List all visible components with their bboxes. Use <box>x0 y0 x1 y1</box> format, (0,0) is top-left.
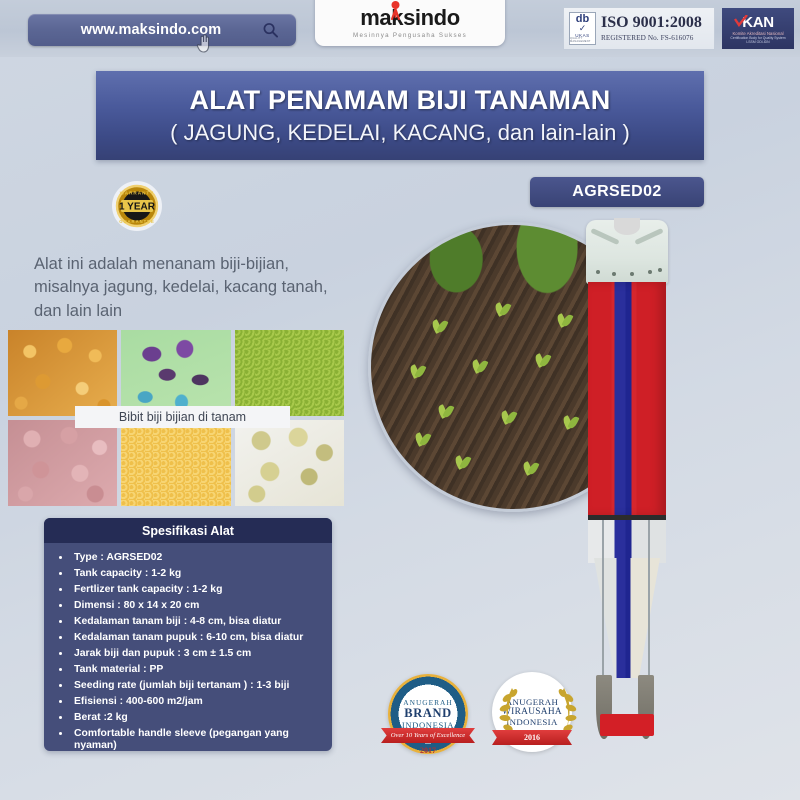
award-badges: ANUGERAH BRAND INDONESIA Over 10 Years o… <box>382 672 602 760</box>
iso-registration-label: REGISTERED No. FS-616076 <box>601 34 702 42</box>
spec-item: Type : AGRSED02 <box>54 552 324 564</box>
award1-ribbon: Over 10 Years of Excellence <box>381 728 475 743</box>
spec-item: Kedalaman tanam pupuk : 6-10 cm, bisa di… <box>54 632 324 644</box>
specifications-panel: Spesifikasi Alat Type : AGRSED02 Tank ca… <box>44 518 332 751</box>
tool-mid-section <box>588 515 666 563</box>
spec-item: Tank material : PP <box>54 664 324 676</box>
warranty-seal-icon: 1 YEAR WARRANTY GUARANTEE <box>104 180 170 232</box>
tool-handle-head <box>586 220 668 284</box>
warranty-top-label: WARRANTY <box>120 191 155 196</box>
award1-year: 2017 <box>420 746 436 755</box>
logo-tagline: Mesinnya Pengusaha Sukses <box>353 32 467 39</box>
spec-item: Kedalaman tanam biji : 4-8 cm, bisa diat… <box>54 616 324 628</box>
mung-beans-image <box>235 330 344 416</box>
hand-cursor-icon <box>196 33 212 53</box>
award2-ribbon: 2016 <box>492 730 572 745</box>
page-subtitle: ( JAGUNG, KEDELAI, KACANG, dan lain-lain… <box>170 120 630 146</box>
spec-item: Jarak biji dan pupuk : 3 cm ± 1.5 cm <box>54 648 324 660</box>
corn-seeds-image <box>8 330 117 416</box>
handle-arm-right <box>634 228 663 245</box>
ukas-icon: db ✓ UKAS QUALITY MANAGEMENT <box>569 12 596 45</box>
spec-item: Berat :2 kg <box>54 712 324 724</box>
warranty-years-label: 1 YEAR <box>119 202 156 213</box>
product-code-badge: AGRSED02 <box>530 177 704 207</box>
peanut-seeds-image <box>8 420 117 506</box>
kan-check-icon <box>734 15 748 27</box>
logo-wordmark: maksindo <box>360 7 460 29</box>
spec-item: Dimensi : 80 x 14 x 20 cm <box>54 600 324 612</box>
award1-ribbon-label: Over 10 Years of Excellence <box>391 732 465 739</box>
tool-foot-plate <box>600 714 654 736</box>
tool-band <box>588 515 666 520</box>
spec-item: Fertlizer tank capacity : 1-2 kg <box>54 584 324 596</box>
spec-item: Efisiensi : 400-600 m2/jam <box>54 696 324 708</box>
award1-line2: BRAND <box>404 707 451 720</box>
soybean-seeds-image <box>235 420 344 506</box>
page-title: ALAT PENAMAM BIJI TANAMAN <box>190 85 611 116</box>
ukas-check-icon: ✓ <box>579 24 587 33</box>
maksindo-logo: maksindo Mesinnya Pengusaha Sukses <box>315 0 505 46</box>
award2-year: 2016 <box>524 733 540 742</box>
top-header-bar: www.maksindo.com maksindo Mesinnya Pengu… <box>0 0 800 57</box>
specifications-header: Spesifikasi Alat <box>44 518 332 543</box>
seed-gallery-caption: Bibit biji bijian di tanam <box>75 406 290 428</box>
product-code-label: AGRSED02 <box>572 183 661 201</box>
website-url-button[interactable]: www.maksindo.com <box>28 14 296 46</box>
kan-line3: LSSM ODI-IDN <box>746 41 769 45</box>
millet-seeds-image <box>121 420 230 506</box>
warranty-bottom-label: GUARANTEE <box>119 219 155 224</box>
spec-item: Seeding rate (jumlah biji tertanam ) : 1… <box>54 680 324 692</box>
tool-main-body <box>588 282 666 517</box>
logo-spark-icon <box>387 0 404 20</box>
anugerah-brand-indonesia-badge: ANUGERAH BRAND INDONESIA Over 10 Years o… <box>382 672 474 760</box>
handle-notch <box>614 218 640 235</box>
ukas-sublabel: QUALITY MANAGEMENT <box>570 38 595 43</box>
search-icon[interactable] <box>263 23 278 38</box>
logo-text: maksindo <box>360 5 460 30</box>
iso-certification-badge: db ✓ UKAS QUALITY MANAGEMENT ISO 9001:20… <box>563 7 715 50</box>
product-description: Alat ini adalah menanam biji-bijian, mis… <box>34 253 334 323</box>
purple-beans-image <box>121 330 230 416</box>
specifications-list: Type : AGRSED02 Tank capacity : 1-2 kg F… <box>44 543 332 751</box>
iso-text-block: ISO 9001:2008 REGISTERED No. FS-616076 <box>601 15 702 42</box>
anugerah-wirausaha-indonesia-badge: ANUGERAH WIRAUSAHA INDONESIA 2016 <box>486 670 578 758</box>
product-title-banner: ALAT PENAMAM BIJI TANAMAN ( JAGUNG, KEDE… <box>96 71 704 160</box>
spec-item: Tank capacity : 1-2 kg <box>54 568 324 580</box>
iso-standard-label: ISO 9001:2008 <box>601 15 702 32</box>
kan-accreditation-badge: KAN Komite Akreditasi Nasional Certifica… <box>722 8 794 49</box>
spec-item: Comfortable handle sleeve (pegangan yang… <box>54 728 324 751</box>
